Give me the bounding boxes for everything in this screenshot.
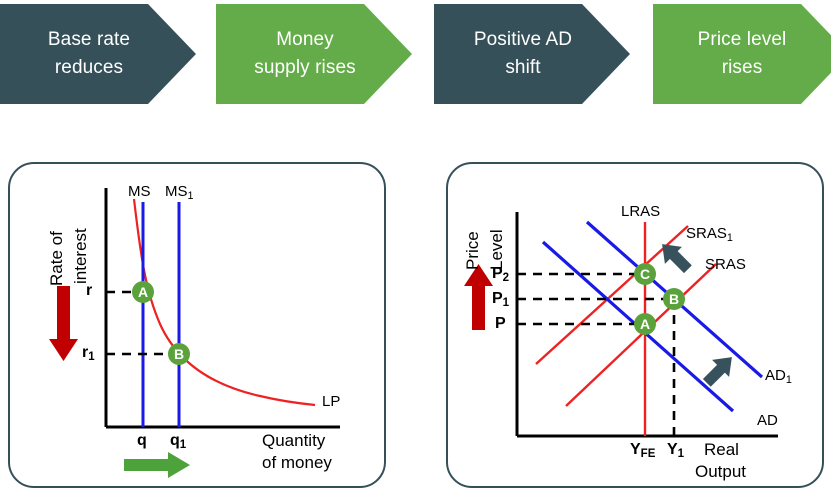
y-axis-label-line2: Level: [488, 229, 506, 270]
sras1-curve-label: SRAS1: [686, 226, 733, 242]
equilibrium-node-b[interactable]: [663, 288, 685, 310]
lp-curve-label: LP: [322, 394, 340, 410]
ad1-curve-label: AD1: [765, 368, 792, 384]
equilibrium-node-c[interactable]: [634, 263, 656, 285]
y-axis-label-line1: Price: [464, 231, 482, 270]
y-axis-label-line2: interest: [72, 228, 90, 284]
y-tick-p2: P2: [492, 265, 509, 282]
x-tick-yfe: YFE: [630, 441, 655, 458]
x-axis-label-line1: Real: [704, 441, 739, 459]
x-tick-q: q: [137, 432, 147, 449]
ad-as-panel: Price Level Real Output LRAS SRAS1 SRAS …: [446, 162, 824, 488]
ms-curve-label: MS: [128, 184, 151, 200]
flow-step-label: Price level rises: [698, 26, 805, 81]
ms1-curve-label: MS1: [165, 184, 194, 200]
lp-curve: [134, 199, 315, 405]
ad-curve-label: AD: [757, 413, 778, 429]
flow-step-label: Base rate reduces: [48, 26, 148, 81]
lras-curve-label: LRAS: [621, 204, 660, 220]
rate-fall-arrow: [49, 286, 78, 361]
equilibrium-node-a[interactable]: [132, 281, 154, 303]
x-axis-label-line2: of money: [262, 454, 332, 472]
sras-curve-label: SRAS: [705, 257, 746, 273]
price-level-rise-arrow: [464, 264, 493, 330]
flow-step-base-rate-reduces[interactable]: Base rate reduces: [0, 4, 196, 104]
equilibrium-node-b[interactable]: [168, 343, 190, 365]
x-axis-label-line1: Quantity: [262, 432, 325, 450]
flow-step-money-supply-rises[interactable]: Money supply rises: [216, 4, 412, 104]
equilibrium-node-a[interactable]: [634, 313, 656, 335]
flow-step-label: Money supply rises: [254, 26, 374, 81]
flow-step-positive-ad-shift[interactable]: Positive AD shift: [434, 4, 630, 104]
y-tick-p1: P1: [492, 290, 509, 307]
money-market-panel: Rate of interest Quantity of money MS MS…: [8, 162, 386, 488]
money-market-diagram: [10, 164, 388, 490]
slide-canvas: Base rate reduces Money supply rises Pos…: [0, 0, 831, 496]
y-tick-p: P: [495, 315, 506, 332]
x-axis-label-line2: Output: [695, 463, 746, 481]
x-tick-q1: q1: [170, 432, 186, 449]
y-axis-label-line1: Rate of: [48, 231, 66, 286]
x-tick-y1: Y1: [667, 441, 684, 458]
money-supply-shift-arrow: [124, 452, 190, 478]
flow-step-label: Positive AD shift: [474, 26, 590, 81]
sras-curve: [566, 264, 716, 406]
flow-step-price-level-rises[interactable]: Price level rises: [653, 4, 831, 104]
y-tick-r: r: [86, 282, 92, 299]
y-tick-r1: r1: [82, 344, 95, 361]
